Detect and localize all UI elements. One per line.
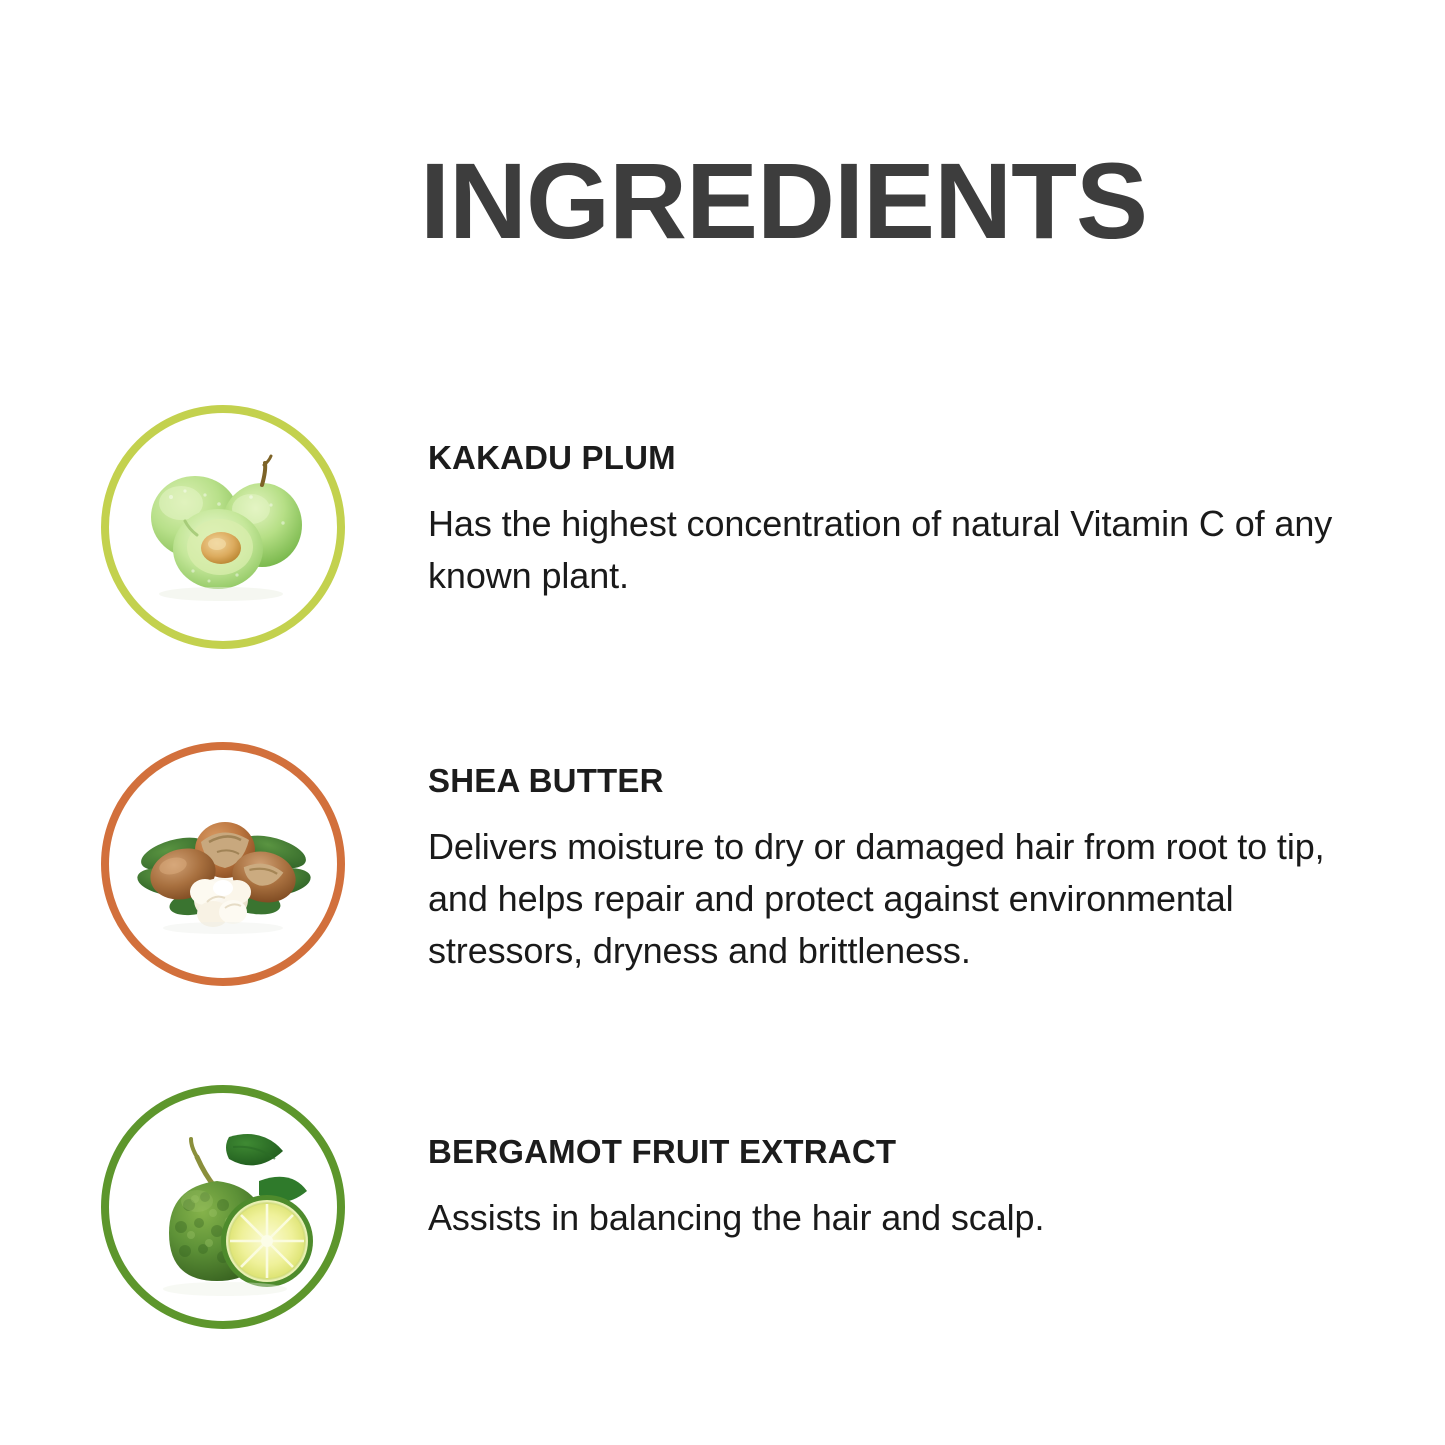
ingredient-text-block: SHEA BUTTER Delivers moisture to dry or … — [428, 764, 1378, 977]
ingredient-name: SHEA BUTTER — [428, 764, 1378, 797]
ingredient-name: BERGAMOT FRUIT EXTRACT — [428, 1135, 1378, 1168]
ingredient-description: Has the highest concentration of natural… — [428, 498, 1378, 602]
page-title: INGREDIENTS — [420, 147, 1147, 255]
ingredient-name: KAKADU PLUM — [428, 441, 1378, 474]
ring-outline — [101, 742, 345, 986]
ingredient-description: Assists in balancing the hair and scalp. — [428, 1192, 1378, 1244]
ingredient-text-block: BERGAMOT FRUIT EXTRACT Assists in balanc… — [428, 1135, 1378, 1244]
ingredient-badge-kakadu-plum — [101, 405, 345, 649]
ingredient-text-block: KAKADU PLUM Has the highest concentratio… — [428, 441, 1378, 602]
ring-outline — [101, 405, 345, 649]
ring-outline — [101, 1085, 345, 1329]
ingredients-page: INGREDIENTS — [0, 0, 1445, 1445]
ingredient-description: Delivers moisture to dry or damaged hair… — [428, 821, 1378, 977]
ingredient-badge-bergamot — [101, 1085, 345, 1329]
ingredient-badge-shea-butter — [101, 742, 345, 986]
